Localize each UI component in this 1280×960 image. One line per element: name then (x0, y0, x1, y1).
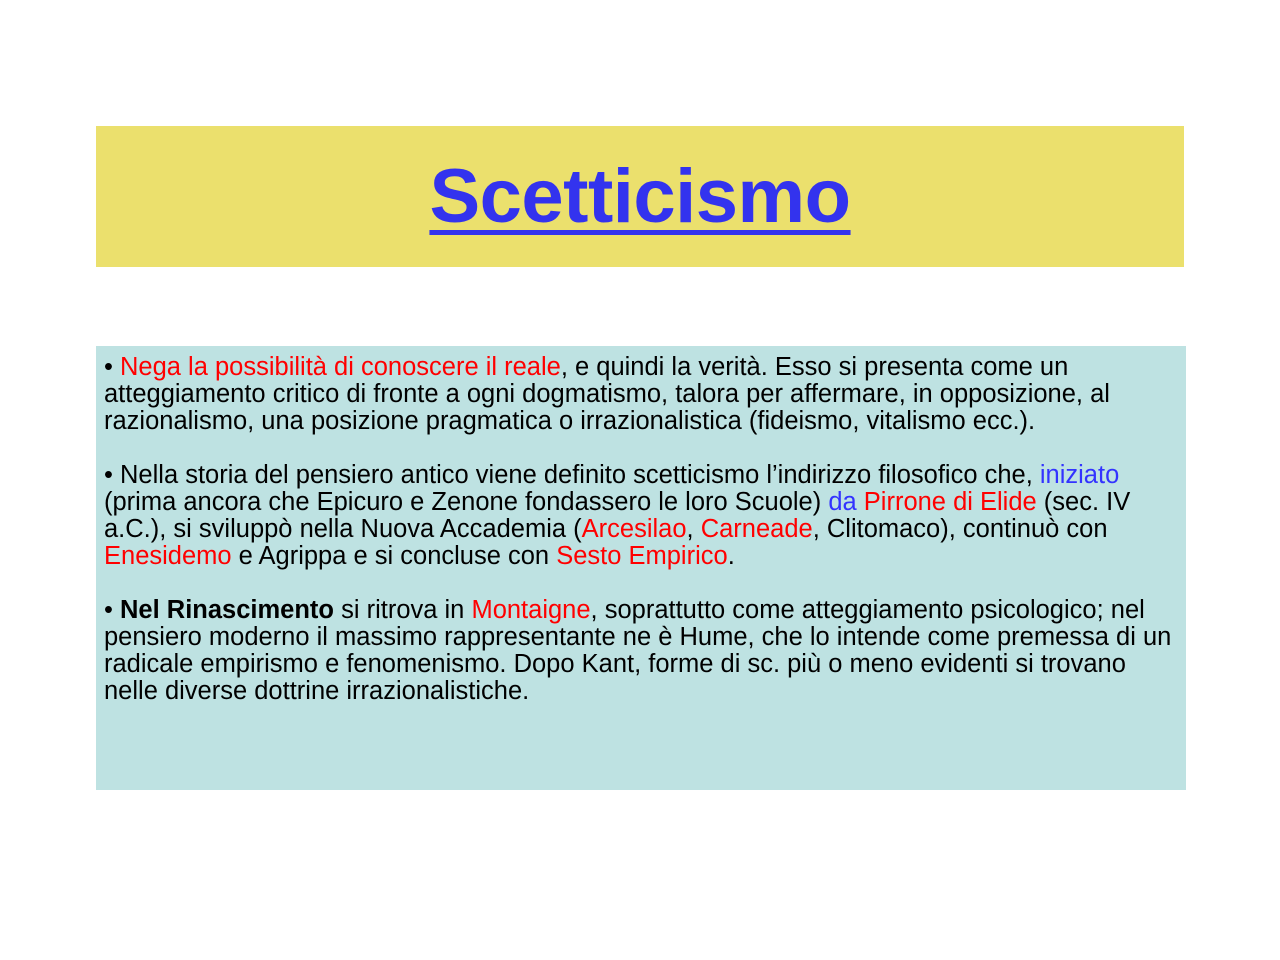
slide-title: Scetticismo (429, 159, 850, 235)
presentation-slide: Scetticismo • Nega la possibilità di con… (0, 0, 1280, 960)
text-run: e Agrippa e si concluse con (232, 542, 557, 570)
slide-body-block: • Nega la possibilità di conoscere il re… (96, 346, 1186, 790)
text-run-red: Enesidemo (104, 542, 232, 570)
text-run-red: Sesto Empirico (556, 542, 727, 570)
body-paragraph: • Nega la possibilità di conoscere il re… (104, 354, 1176, 435)
text-run-red: Pirrone di Elide (864, 488, 1037, 516)
text-run: • (104, 353, 120, 381)
text-run-red: Arcesilao (582, 515, 687, 543)
text-run: • (104, 461, 120, 489)
text-run: . (728, 542, 735, 570)
text-run-red: Carneade (701, 515, 813, 543)
text-run: , (687, 515, 701, 543)
text-run (857, 488, 864, 516)
text-run: • (104, 596, 120, 624)
body-paragraph: • Nella storia del pensiero antico viene… (104, 462, 1176, 570)
text-run: (prima ancora che Epicuro e Zenone fonda… (104, 488, 828, 516)
body-paragraph: • Nel Rinascimento si ritrova in Montaig… (104, 597, 1176, 705)
text-run-red: Nega la possibilità di conoscere il real… (120, 353, 561, 381)
text-run: Nella storia del pensiero antico viene d… (120, 461, 1040, 489)
text-run-blue: da (828, 488, 856, 516)
text-run-bold: Nel Rinascimento (120, 596, 334, 624)
text-run: , Clitomaco), continuò con (813, 515, 1108, 543)
text-run-red: Montaigne (471, 596, 590, 624)
text-run-blue: iniziato (1040, 461, 1119, 489)
text-run: si ritrova in (334, 596, 471, 624)
title-banner: Scetticismo (96, 126, 1184, 267)
